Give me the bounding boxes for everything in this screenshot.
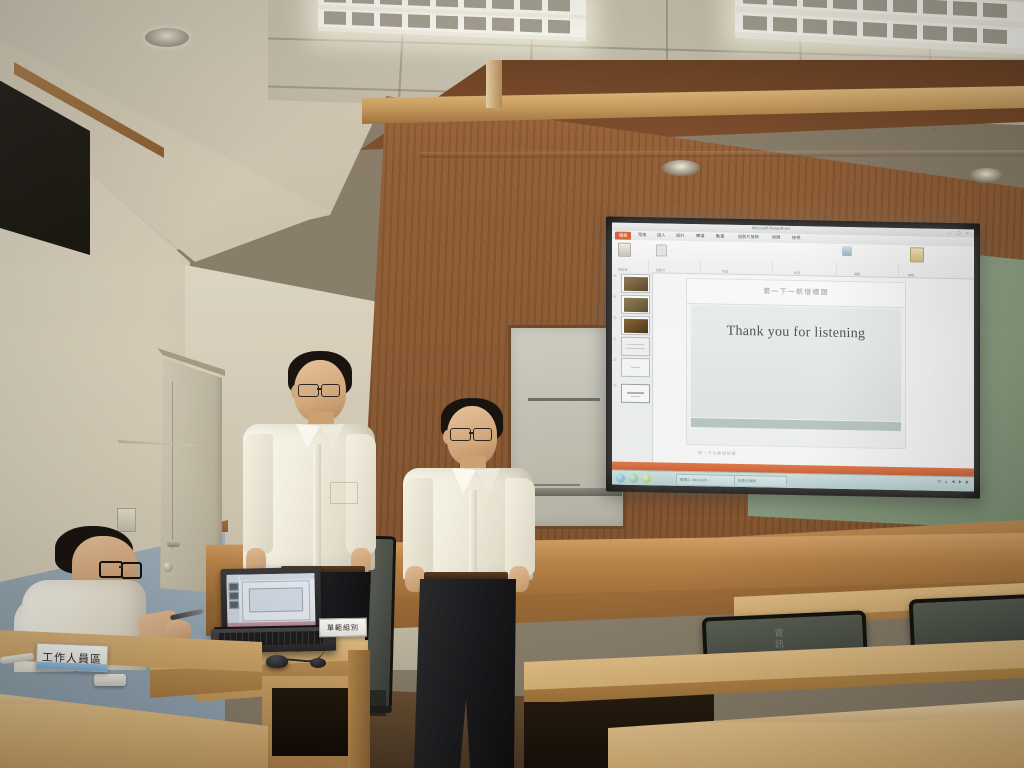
glasses-icon bbox=[321, 384, 340, 397]
thumbnail-photo bbox=[624, 297, 648, 311]
arm-left bbox=[243, 434, 273, 554]
door-handle-icon[interactable] bbox=[167, 540, 180, 547]
glasses-bridge bbox=[317, 388, 321, 390]
slide-thumbnail[interactable] bbox=[621, 337, 650, 357]
slide-notes-placeholder[interactable]: 按一下以新增註解 bbox=[698, 450, 736, 457]
glasses-bridge bbox=[469, 432, 473, 434]
ribbon-group-paragraph: 段落 bbox=[794, 270, 800, 275]
slide-thumbnail[interactable] bbox=[621, 358, 650, 378]
find-replace-icon[interactable] bbox=[910, 247, 924, 262]
thumb-number: 19 bbox=[613, 295, 616, 299]
arm-left bbox=[403, 478, 433, 576]
recessed-downlight-icon bbox=[145, 28, 189, 47]
ribbon-group-editing: 編輯 bbox=[908, 272, 914, 277]
projection-screen[interactable]: Microsoft PowerPoint — ▢ ✕ 檔案 常用 插入 設計 轉… bbox=[612, 223, 974, 492]
door-knob-icon[interactable] bbox=[163, 562, 173, 572]
laptop-thumbnail bbox=[229, 601, 239, 609]
thumbnail-photo bbox=[624, 318, 648, 332]
ceiling-beam-post bbox=[486, 60, 502, 108]
system-tray[interactable]: 中 ▲ ◀ ▶ 🔊 bbox=[937, 480, 971, 486]
shirt-placket bbox=[313, 444, 321, 568]
tab-file[interactable]: 檔案 bbox=[615, 231, 631, 239]
whiteboard-writing bbox=[528, 398, 600, 401]
tab-transitions[interactable]: 轉場 bbox=[696, 233, 704, 239]
explorer-icon[interactable] bbox=[642, 474, 651, 483]
tab-home[interactable]: 常用 bbox=[638, 232, 646, 238]
browser-icon[interactable] bbox=[629, 473, 638, 482]
ribbon-group-font: 字型 bbox=[722, 269, 728, 274]
slide-thumbnail-pane[interactable]: 18 19 20 21 22 bbox=[612, 272, 653, 473]
taskbar-item-slideshow[interactable]: 投影片放映 bbox=[734, 475, 787, 488]
laptop-thumbnail bbox=[229, 592, 239, 600]
light-switch[interactable] bbox=[117, 508, 136, 532]
recessed-downlight-icon bbox=[662, 160, 700, 176]
classroom-photo: Microsoft PowerPoint — ▢ ✕ 檔案 常用 插入 設計 轉… bbox=[0, 0, 1024, 768]
glasses-icon bbox=[99, 561, 123, 578]
slide-editing-stage[interactable]: 第一下一新增標題 Thank you for listening 按一下以新增註… bbox=[654, 273, 972, 477]
shirt-pocket bbox=[330, 482, 358, 504]
eraser[interactable] bbox=[94, 674, 126, 686]
thumb-number: 21 bbox=[613, 337, 616, 341]
tab-design[interactable]: 設計 bbox=[676, 233, 684, 239]
nameplate-secondary: 單範組別 bbox=[319, 618, 367, 638]
nameplate-color-band bbox=[37, 662, 107, 672]
status-slide-counter: 投影片 24 之 24 「中文(台灣)」 bbox=[615, 224, 683, 231]
nameplate-staff-area: 工作人員區 bbox=[36, 643, 109, 673]
tab-animations[interactable]: 動畫 bbox=[716, 234, 724, 240]
laptop-thumbnail bbox=[229, 583, 239, 591]
desk-side-panel bbox=[348, 650, 370, 768]
slide-thumbnail[interactable] bbox=[621, 316, 650, 336]
computer-mouse[interactable] bbox=[266, 655, 288, 668]
glasses-icon bbox=[121, 562, 142, 579]
slide-thumbnail[interactable] bbox=[621, 274, 650, 294]
thumb-number: 23 bbox=[613, 384, 616, 388]
new-slide-icon[interactable] bbox=[656, 244, 667, 256]
door-panel bbox=[172, 378, 214, 560]
slide-thumbnail-selected[interactable] bbox=[621, 384, 650, 404]
glasses-icon bbox=[298, 384, 319, 397]
tab-insert[interactable]: 插入 bbox=[657, 232, 665, 238]
slide-content-area[interactable] bbox=[691, 305, 901, 421]
paste-icon[interactable] bbox=[618, 243, 631, 257]
desk-cubby bbox=[272, 688, 350, 756]
powerpoint-window[interactable]: Microsoft PowerPoint — ▢ ✕ 檔案 常用 插入 設計 轉… bbox=[612, 223, 974, 492]
taskbar-item-powerpoint[interactable]: 簡報1 - Microsoft ... bbox=[676, 474, 735, 487]
view-mode-buttons[interactable]: ⊞ ▤ ▥ ▦ ⊟ － ＋ bbox=[919, 229, 970, 236]
thumbnail-photo bbox=[624, 276, 648, 290]
glasses-bridge bbox=[119, 566, 123, 568]
slide-thumbnail[interactable] bbox=[621, 295, 650, 315]
arm-right bbox=[505, 478, 535, 576]
tab-slideshow[interactable]: 投影片放映 bbox=[738, 234, 759, 240]
thumb-number: 22 bbox=[613, 358, 616, 362]
tab-view[interactable]: 檢視 bbox=[792, 235, 800, 241]
thumb-number: 18 bbox=[613, 274, 616, 278]
current-slide[interactable]: 第一下一新增標題 Thank you for listening bbox=[686, 278, 906, 449]
laptop-slide-box bbox=[249, 587, 303, 612]
ribbon-group-drawing: 繪圖 bbox=[854, 271, 860, 276]
nameplate-secondary-text: 單範組別 bbox=[327, 622, 359, 633]
remote-presenter[interactable] bbox=[310, 658, 326, 668]
shirt-placket bbox=[469, 490, 477, 582]
ribbon-group-slides: 投影片 bbox=[656, 267, 666, 272]
ppt-title-text: Microsoft PowerPoint bbox=[752, 225, 790, 231]
laptop-screen[interactable] bbox=[226, 573, 315, 629]
shapes-icon[interactable] bbox=[842, 246, 852, 256]
glasses-icon bbox=[450, 428, 471, 441]
tab-review[interactable]: 校閱 bbox=[772, 235, 780, 241]
thumb-number: 20 bbox=[613, 316, 616, 320]
start-orb-icon[interactable] bbox=[616, 473, 625, 482]
glasses-icon bbox=[473, 428, 492, 441]
recessed-downlight-icon bbox=[968, 168, 1004, 183]
